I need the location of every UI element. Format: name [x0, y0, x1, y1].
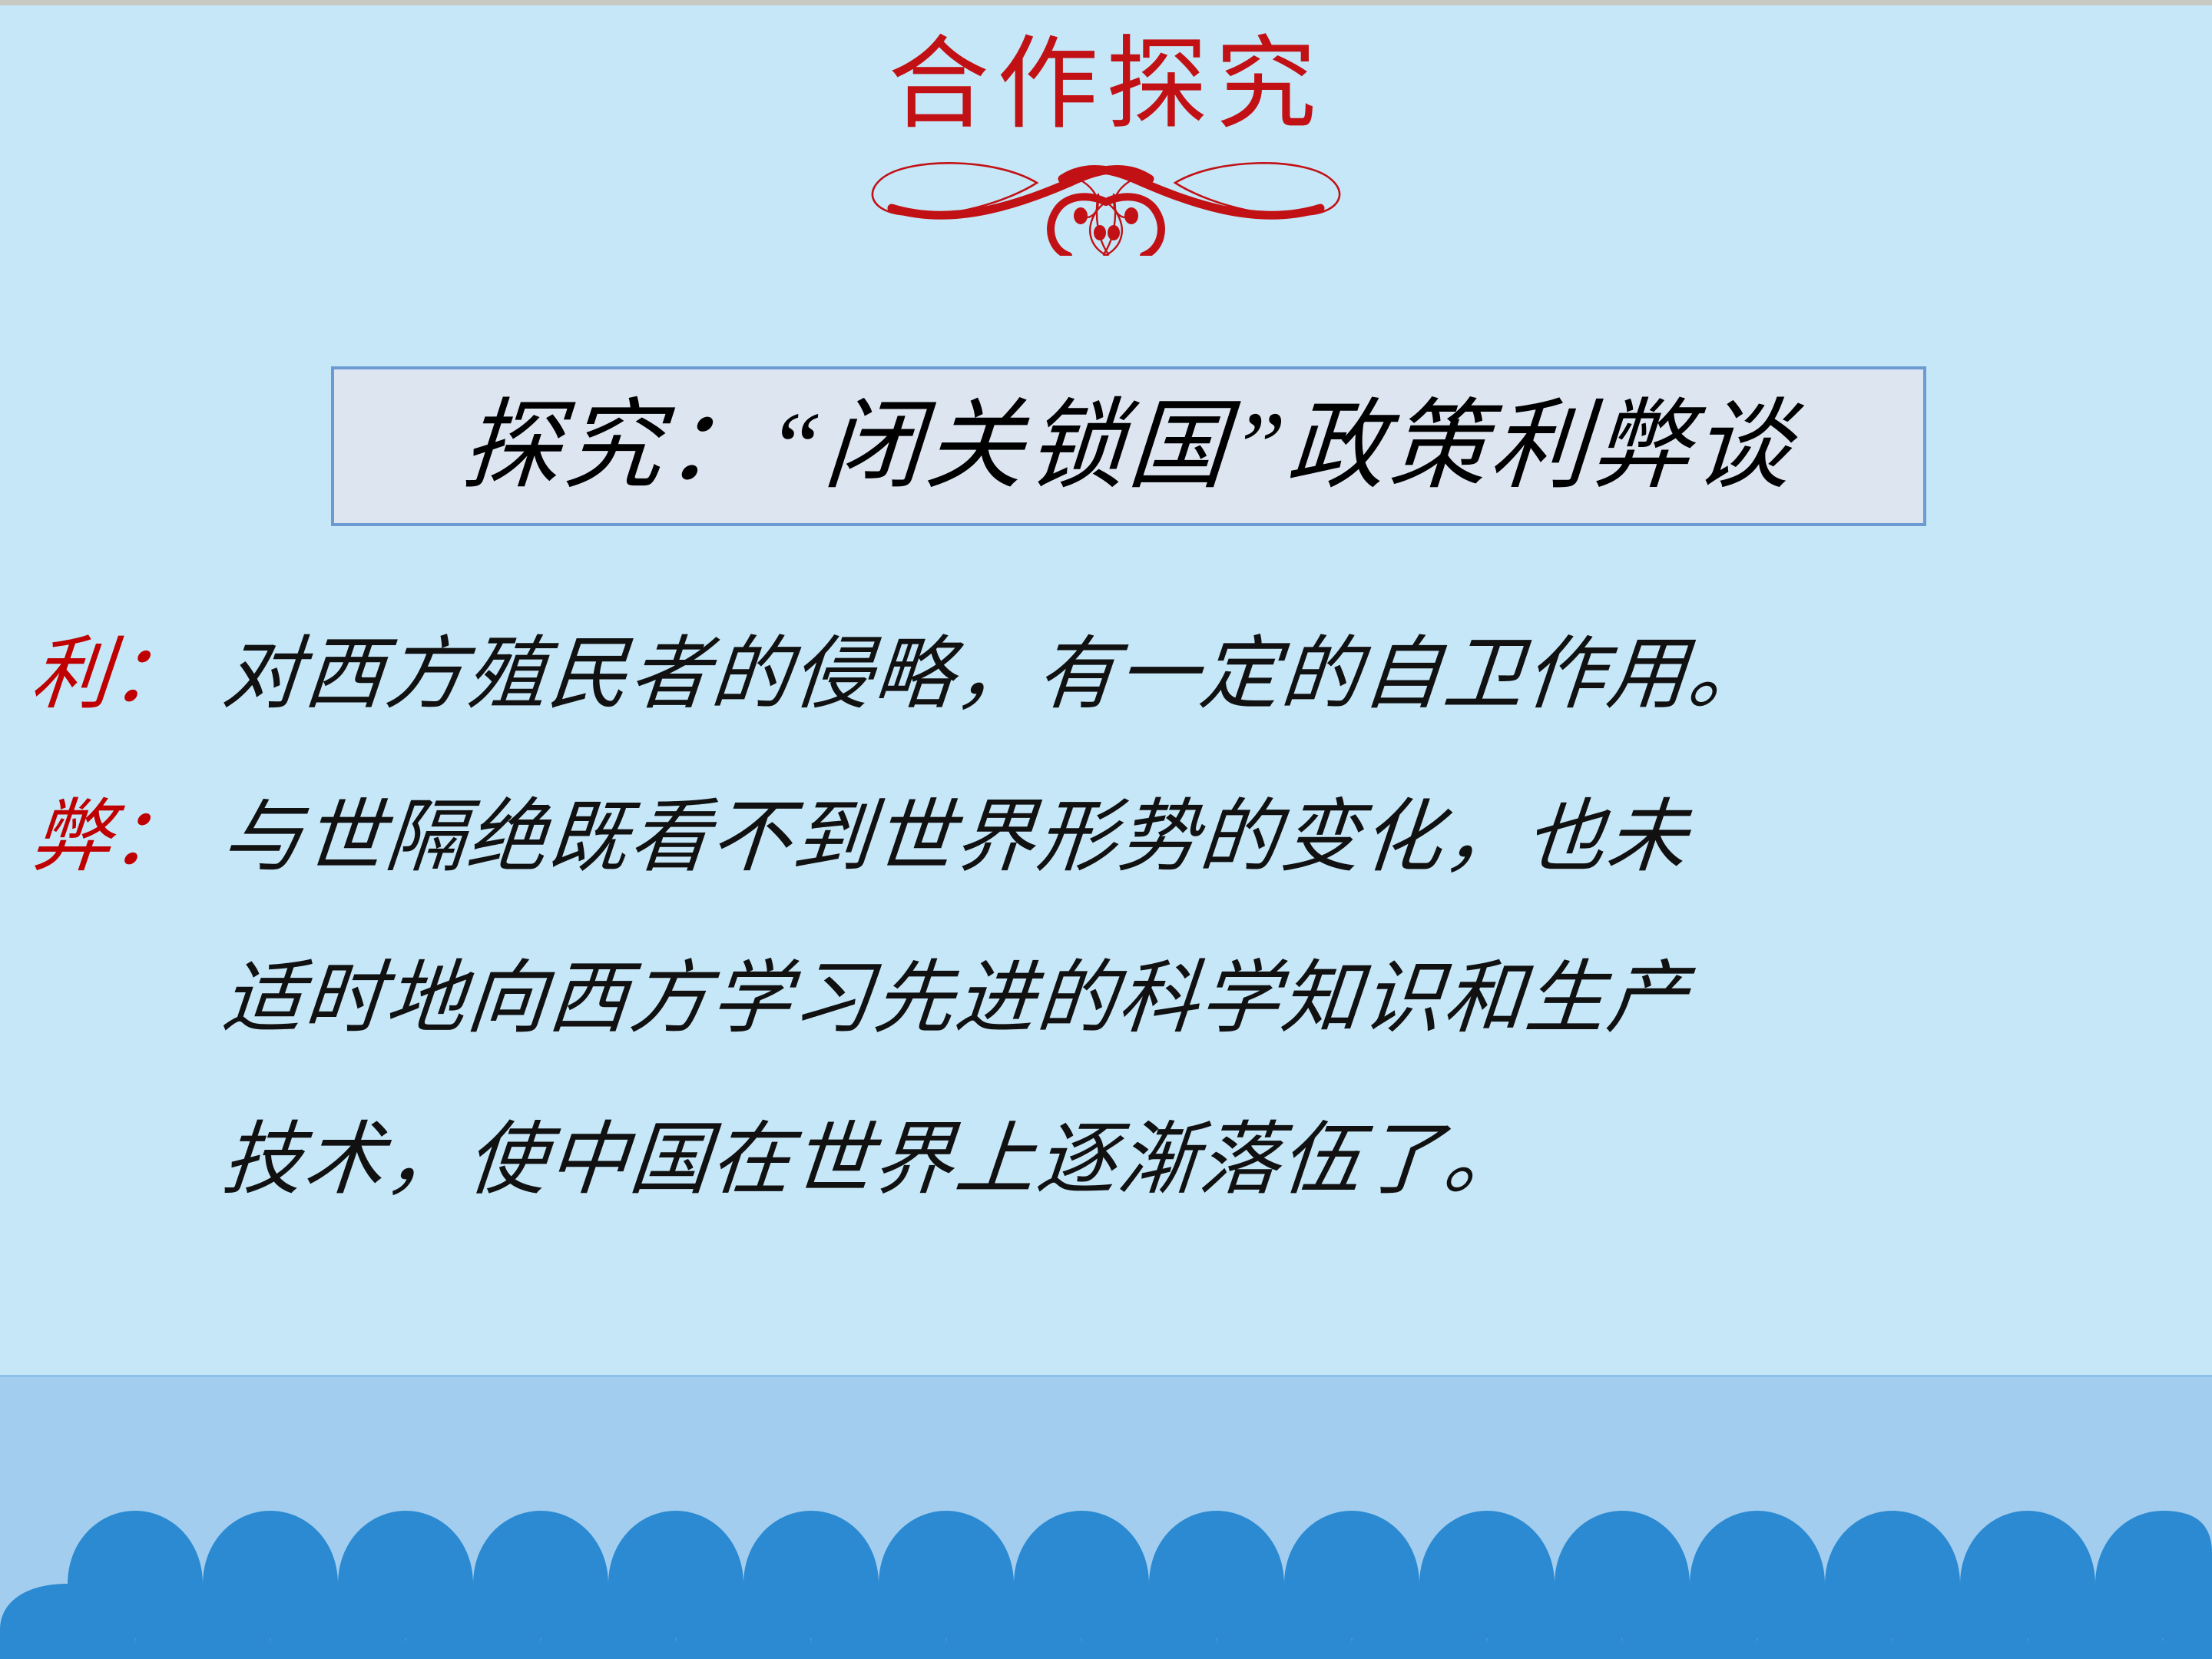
body-text-area: 利： 对西方殖民者的侵略，有一定的自卫作用。 弊： 与世隔绝既看不到世界形势的变…	[0, 628, 2212, 1217]
decorative-flourish-icon	[864, 148, 1348, 256]
pros-paragraph: 利： 对西方殖民者的侵略，有一定的自卫作用。	[0, 628, 2212, 723]
pros-line-1: 对西方殖民者的侵略，有一定的自卫作用。	[219, 628, 2086, 723]
cons-line-1: 与世隔绝既看不到世界形势的变化，也未	[219, 790, 2086, 886]
top-edge-strip	[0, 0, 2212, 5]
page-title: 合作探究	[0, 28, 2212, 142]
footer-decorative-band	[0, 1375, 2212, 1659]
arch-row-front	[0, 1584, 2212, 1659]
cons-paragraph: 弊： 与世隔绝既看不到世界形势的变化，也未 适时地向西方学习先进的科学知识和生产…	[0, 790, 2212, 1208]
cons-line-2: 适时地向西方学习先进的科学知识和生产	[219, 952, 2086, 1047]
cons-line-3: 技术，使中国在世界上逐渐落伍了。	[219, 1113, 2086, 1208]
pros-lines: 对西方殖民者的侵略，有一定的自卫作用。	[223, 628, 2212, 723]
cons-lines: 与世隔绝既看不到世界形势的变化，也未 适时地向西方学习先进的科学知识和生产 技术…	[223, 790, 2212, 1208]
inquiry-heading-box: 探究：“闭关锁国”政策利弊谈	[331, 366, 1926, 526]
slide-canvas: 合作探究	[0, 0, 2212, 1659]
cons-marker-label: 弊：	[0, 790, 227, 886]
pros-marker-label: 利：	[0, 628, 227, 723]
slide-content-area: 合作探究	[0, 5, 2212, 1375]
inquiry-heading-text: 探究：“闭关锁国”政策利弊谈	[459, 397, 1798, 495]
band-top-divider	[0, 1375, 2212, 1377]
